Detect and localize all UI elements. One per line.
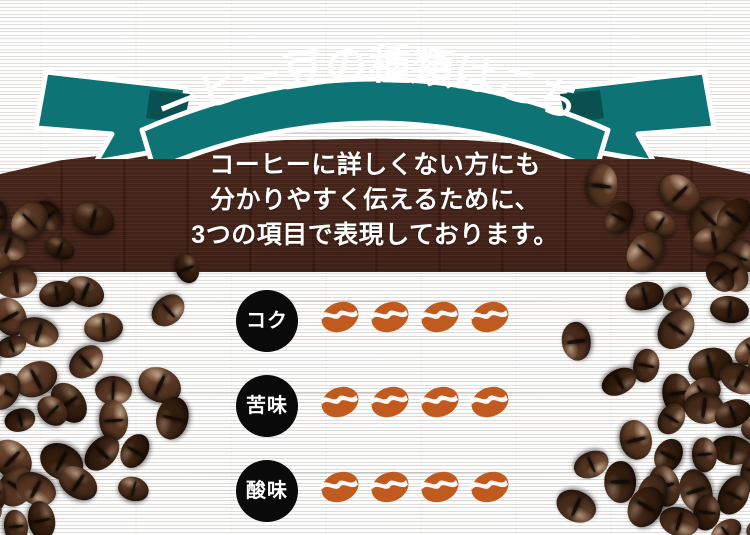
ribbon-shape: コーヒー豆の種類はこちら! [0,24,750,159]
rating-row: コク [236,290,536,375]
coffee-bean-icon [320,467,360,507]
lead-copy-line-2: 分かりやすく伝えるために、 [0,183,750,218]
rating-bean-group [320,297,510,337]
rating-label-text: 酸味 [246,481,288,501]
coffee-bean-icon [470,467,510,507]
ribbon-banner: コーヒー豆の種類はこちら! [0,24,750,159]
coffee-bean-icon [320,297,360,337]
coffee-bean-icon [420,382,460,422]
rating-label-badge: 苦味 [236,375,298,437]
coffee-bean-icon [470,382,510,422]
coffee-bean-icon [370,382,410,422]
rating-bean-group [320,382,510,422]
lead-copy-line-1: コーヒーに詳しくない方にも [0,148,750,183]
rating-list: コク苦味酸味 [236,290,536,535]
coffee-bean-icon [470,297,510,337]
coffee-bean-icon [420,297,460,337]
coffee-bean-icon [420,467,460,507]
coffee-bean-icon [370,297,410,337]
coffee-bean-icon [370,467,410,507]
rating-label-text: 苦味 [246,396,288,416]
coffee-bean-icon [320,382,360,422]
lead-copy-line-3: 3つの項目で表現しております。 [0,218,750,253]
rating-label-badge: コク [236,290,298,352]
rating-row: 苦味 [236,375,536,460]
promo-banner: コーヒー豆の種類はこちら! コーヒーに詳しくない方にも 分かりやすく伝えるために… [0,0,750,535]
lead-copy: コーヒーに詳しくない方にも 分かりやすく伝えるために、 3つの項目で表現しており… [0,148,750,253]
rating-bean-group [320,467,510,507]
rating-label-badge: 酸味 [236,460,298,522]
rating-label-text: コク [246,311,288,331]
rating-row: 酸味 [236,460,536,535]
